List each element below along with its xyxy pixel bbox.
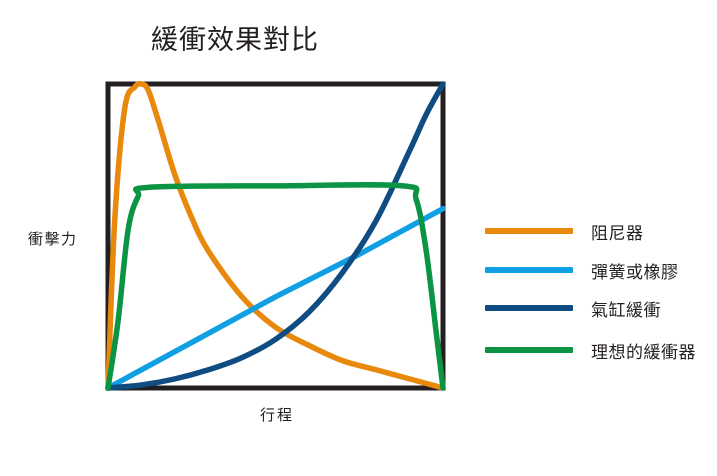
legend-item-cylinder[interactable]: 氣缸緩衝 — [485, 293, 661, 323]
legend-item-ideal[interactable]: 理想的緩衝器 — [485, 335, 696, 365]
legend-label-cylinder: 氣缸緩衝 — [591, 296, 661, 321]
legend-label-damper: 阻尼器 — [591, 219, 644, 244]
legend-label-spring: 彈簧或橡膠 — [591, 258, 679, 283]
legend-swatch-cylinder — [485, 305, 573, 311]
legend-swatch-ideal — [485, 347, 573, 353]
legend-swatch-spring — [485, 267, 573, 273]
legend-label-ideal: 理想的緩衝器 — [591, 338, 696, 363]
legend-swatch-damper — [485, 228, 573, 234]
legend-item-damper[interactable]: 阻尼器 — [485, 216, 644, 246]
legend-item-spring[interactable]: 彈簧或橡膠 — [485, 255, 679, 285]
chart-figure: 緩衝效果對比 衝擊力 行程 阻尼器 彈簧或橡膠 氣缸緩衝 理想的緩衝器 — [0, 0, 717, 476]
